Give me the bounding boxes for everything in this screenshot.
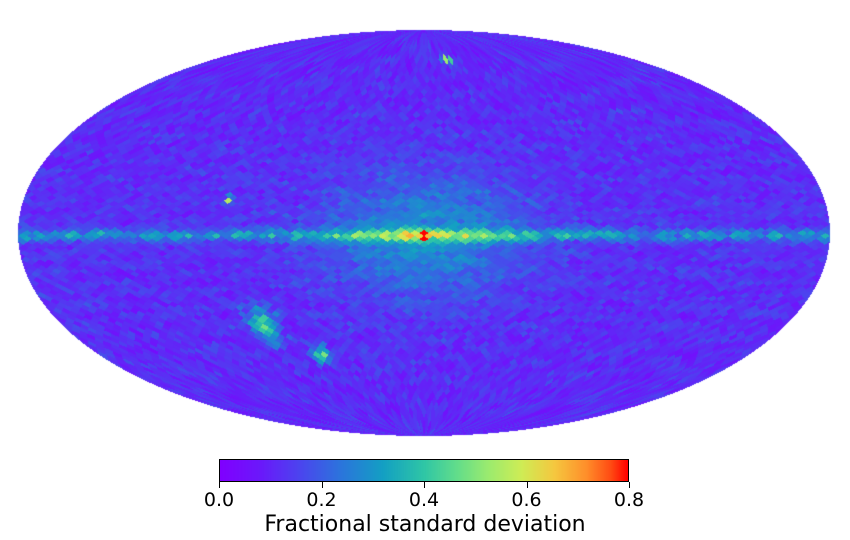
colorbar-tick-label: 0.0	[204, 488, 234, 512]
colorbar-bar	[219, 459, 629, 482]
colorbar-tick-label: 0.6	[511, 488, 541, 512]
sky-map-figure: 0.00.20.40.60.8 Fractional standard devi…	[0, 0, 850, 540]
colorbar-tick-label: 0.8	[614, 488, 644, 512]
colorbar-tick-label: 0.2	[306, 488, 336, 512]
colorbar-axis-label: Fractional standard deviation	[0, 512, 850, 538]
colorbar: 0.00.20.40.60.8 Fractional standard devi…	[0, 450, 850, 540]
colorbar-tick-label: 0.4	[409, 488, 439, 512]
colorbar-tick-labels: 0.00.20.40.60.8	[0, 488, 850, 514]
healpix-sky-canvas	[0, 0, 850, 450]
all-sky-mollweide-map	[0, 0, 850, 450]
colorbar-gradient	[220, 460, 628, 481]
